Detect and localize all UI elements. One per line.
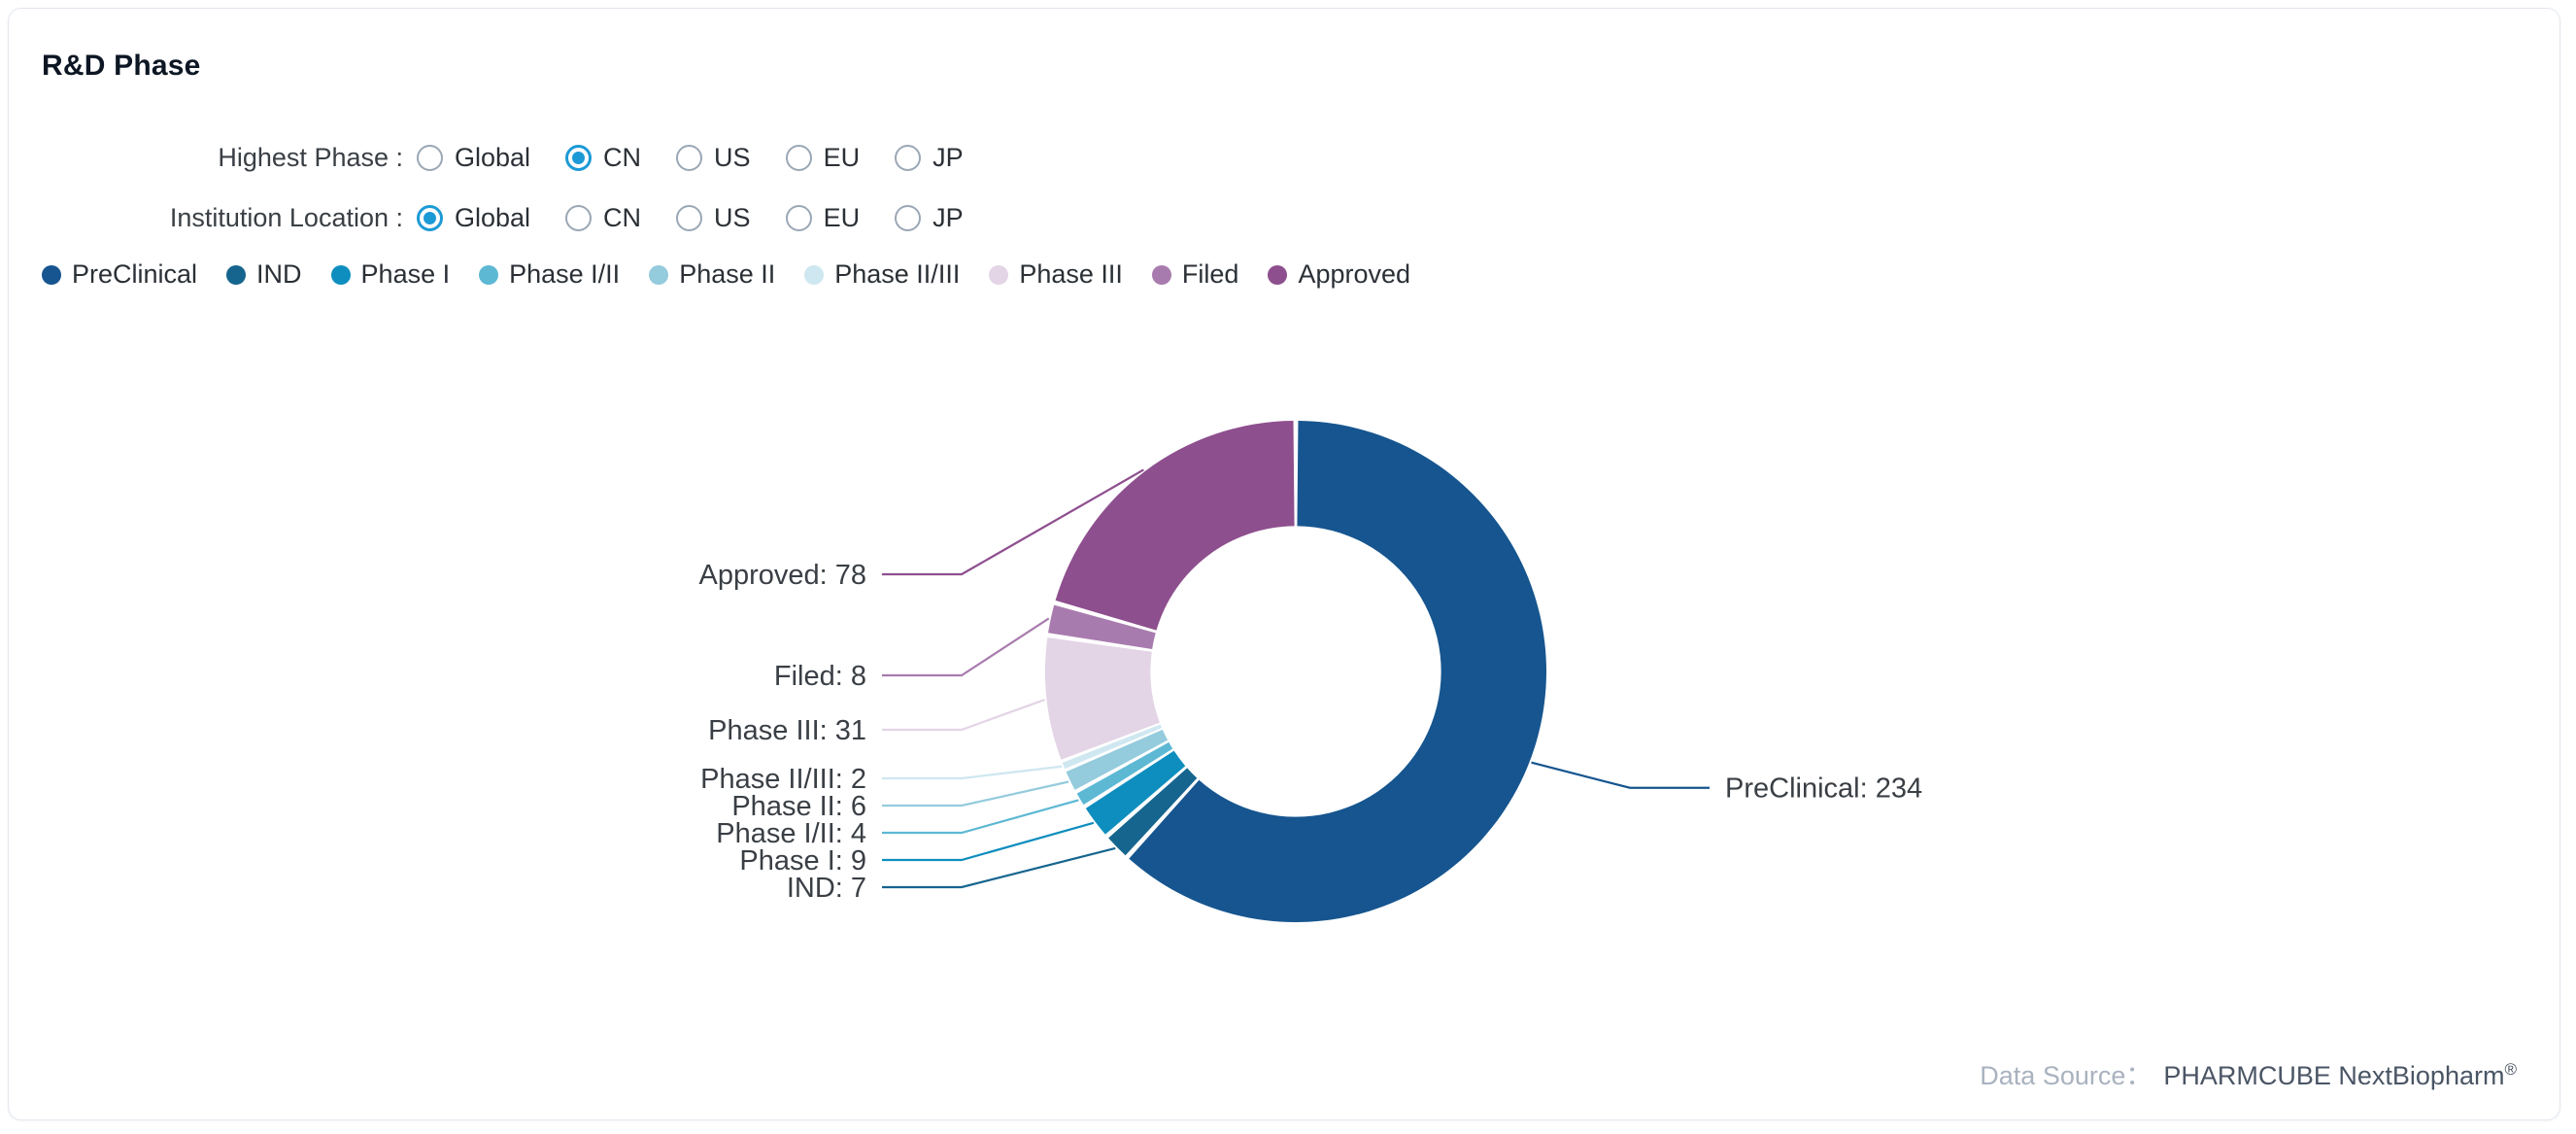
radio-label: US [714,143,751,173]
registered-trademark-icon: ® [2504,1060,2517,1079]
radio-button-icon[interactable] [676,145,702,171]
legend-swatch-icon [331,265,351,285]
filter-panel: Highest Phase : GlobalCNUSEUJP Instituti… [9,127,2559,248]
radio-group-institution-location: GlobalCNUSEUJP [417,203,999,233]
legend-label: Phase II/III [834,259,960,290]
legend-label: Filed [1182,259,1239,290]
slice-label-phase-i: Phase I: 9 [739,845,866,876]
radio-button-icon[interactable] [417,205,443,231]
radio-label: EU [824,143,861,173]
legend-item-phase-iii[interactable]: Phase III [989,259,1123,290]
leader-line-phase-ii-iii [882,767,1062,778]
legend-item-phase-i-ii[interactable]: Phase I/II [479,259,620,290]
radio-institution-location-jp[interactable]: JP [895,203,964,233]
radio-highest-phase-cn[interactable]: CN [565,143,641,173]
donut-slice-approved[interactable] [1056,421,1295,631]
legend-swatch-icon [1152,265,1171,285]
legend-swatch-icon [479,265,498,285]
radio-label: JP [932,203,964,233]
slice-label-phase-iii: Phase III: 31 [708,715,866,746]
data-source-value: PHARMCUBE NextBiopharm® [2163,1060,2517,1091]
slice-label-preclinical: PreClinical: 234 [1725,773,1922,805]
radio-highest-phase-us[interactable]: US [676,143,751,173]
leader-line-phase-i [882,823,1094,860]
rd-phase-card: R&D Phase Highest Phase : GlobalCNUSEUJP… [8,8,2560,1120]
legend-swatch-icon [804,265,824,285]
legend-item-filed[interactable]: Filed [1152,259,1239,290]
radio-button-icon[interactable] [565,205,592,231]
radio-button-icon[interactable] [676,205,702,231]
leader-line-phase-iii [882,700,1045,730]
filter-label-institution-location: Institution Location : [9,203,417,233]
leader-line-preclinical [1532,763,1710,788]
legend-item-preclinical[interactable]: PreClinical [42,259,197,290]
legend-item-ind[interactable]: IND [226,259,302,290]
legend-item-phase-ii-iii[interactable]: Phase II/III [804,259,960,290]
slice-label-phase-i-ii: Phase I/II: 4 [716,818,866,849]
legend-swatch-icon [1268,265,1287,285]
radio-label: JP [932,143,964,173]
slice-label-phase-ii: Phase II: 6 [731,791,866,822]
legend-swatch-icon [42,265,61,285]
leader-line-phase-ii [882,782,1068,806]
radio-button-icon[interactable] [786,205,812,231]
legend-label: Phase I [361,259,451,290]
legend-label: Phase III [1019,259,1123,290]
radio-button-icon[interactable] [895,145,921,171]
radio-highest-phase-jp[interactable]: JP [895,143,964,173]
leader-line-ind [882,848,1115,887]
legend-label: IND [256,259,302,290]
radio-button-icon[interactable] [786,145,812,171]
radio-button-icon[interactable] [565,145,592,171]
legend-swatch-icon [989,265,1008,285]
radio-institution-location-eu[interactable]: EU [786,203,861,233]
slice-label-filed: Filed: 8 [774,661,866,692]
slice-label-phase-ii-iii: Phase II/III: 2 [700,764,866,795]
donut-chart: PreClinical: 234IND: 7Phase I: 9Phase I/… [9,320,2576,1039]
filter-row-highest-phase: Highest Phase : GlobalCNUSEUJP [9,127,2559,188]
radio-label: CN [603,143,641,173]
radio-institution-location-global[interactable]: Global [417,203,530,233]
radio-highest-phase-global[interactable]: Global [417,143,530,173]
radio-institution-location-cn[interactable]: CN [565,203,641,233]
legend-label: PreClinical [72,259,197,290]
slice-label-approved: Approved: 78 [698,560,866,591]
legend-item-approved[interactable]: Approved [1268,259,1410,290]
radio-label: EU [824,203,861,233]
radio-label: CN [603,203,641,233]
radio-highest-phase-eu[interactable]: EU [786,143,861,173]
page-title: R&D Phase [42,50,201,83]
data-source-name: PHARMCUBE NextBiopharm [2163,1061,2504,1090]
donut-chart-svg: PreClinical: 234IND: 7Phase I: 9Phase I/… [9,320,2576,1039]
slice-label-ind: IND: 7 [787,873,866,904]
legend-label: Approved [1298,259,1410,290]
chart-legend: PreClinicalINDPhase IPhase I/IIPhase IIP… [42,259,1440,290]
radio-label: Global [455,143,530,173]
radio-label: US [714,203,751,233]
radio-institution-location-us[interactable]: US [676,203,751,233]
radio-button-icon[interactable] [417,145,443,171]
legend-swatch-icon [649,265,668,285]
legend-label: Phase II [679,259,775,290]
filter-label-highest-phase: Highest Phase : [9,143,417,173]
data-source-label: Data Source： [1980,1054,2152,1092]
data-source-footer: Data Source： PHARMCUBE NextBiopharm® [1980,1054,2517,1092]
radio-group-highest-phase: GlobalCNUSEUJP [417,143,999,173]
donut-slice-group [1045,421,1546,922]
legend-item-phase-i[interactable]: Phase I [331,259,451,290]
radio-label: Global [455,203,530,233]
leader-line-filed [882,618,1049,675]
legend-swatch-icon [226,265,246,285]
filter-row-institution-location: Institution Location : GlobalCNUSEUJP [9,188,2559,248]
radio-button-icon[interactable] [895,205,921,231]
legend-item-phase-ii[interactable]: Phase II [649,259,775,290]
legend-label: Phase I/II [509,259,620,290]
